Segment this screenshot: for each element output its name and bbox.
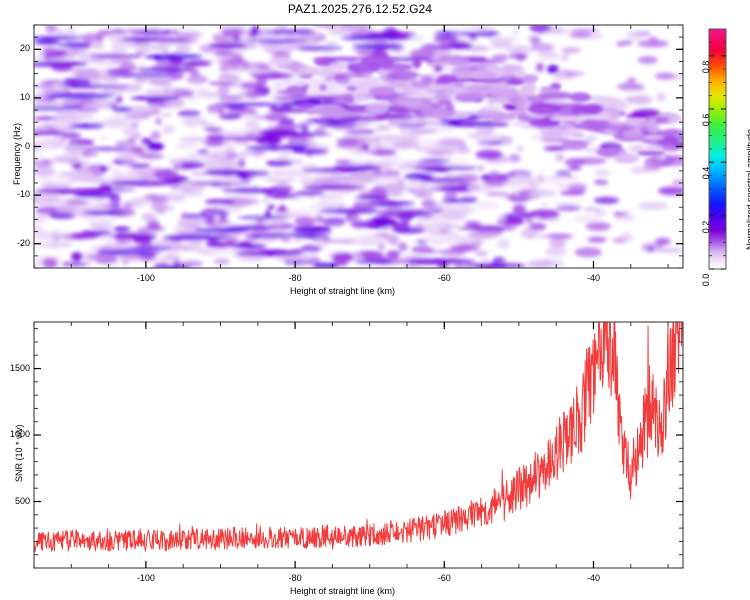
x-tick-label: -40: [573, 573, 613, 583]
x-tick-label: -100: [126, 573, 166, 583]
colorbar-tick-label: 0.4: [701, 162, 711, 184]
y-tick-label: 500: [8, 496, 30, 506]
x-tick-label: -100: [126, 273, 166, 283]
colorbar-tick-label: 0.2: [701, 216, 711, 238]
colorbar-label: Normalized spectral amplitude: [745, 129, 750, 250]
y-tick-label: -20: [8, 238, 30, 248]
snr-x-axis-label: Height of straight line (km): [290, 586, 395, 596]
spectrogram-canvas: [0, 0, 750, 310]
figure-root: PAZ1.2025.276.12.52.G24 Frequency (Hz) H…: [0, 0, 750, 600]
colorbar-tick-label: 0.0: [701, 269, 711, 291]
y-tick-label: 0: [8, 141, 30, 151]
x-tick-label: -60: [424, 573, 464, 583]
colorbar-tick-label: 0.6: [701, 109, 711, 131]
snr-panel: SNR (10 * v/v) Height of straight line (…: [0, 310, 750, 600]
y-tick-label: 1500: [8, 363, 30, 373]
y-tick-label: 1000: [8, 429, 30, 439]
y-tick-label: 20: [8, 43, 30, 53]
snr-canvas: [0, 310, 750, 600]
x-tick-label: -80: [275, 273, 315, 283]
y-tick-label: -10: [8, 189, 30, 199]
x-tick-label: -80: [275, 573, 315, 583]
x-tick-label: -60: [424, 273, 464, 283]
spectrogram-panel: Frequency (Hz) Height of straight line (…: [0, 0, 750, 310]
x-tick-label: -40: [573, 273, 613, 283]
colorbar: [709, 29, 726, 269]
colorbar-tick-label: 0.8: [701, 56, 711, 78]
spectrogram-x-axis-label: Height of straight line (km): [290, 286, 395, 296]
y-tick-label: 10: [8, 92, 30, 102]
spectrogram-y-axis-label: Frequency (Hz): [12, 123, 22, 185]
